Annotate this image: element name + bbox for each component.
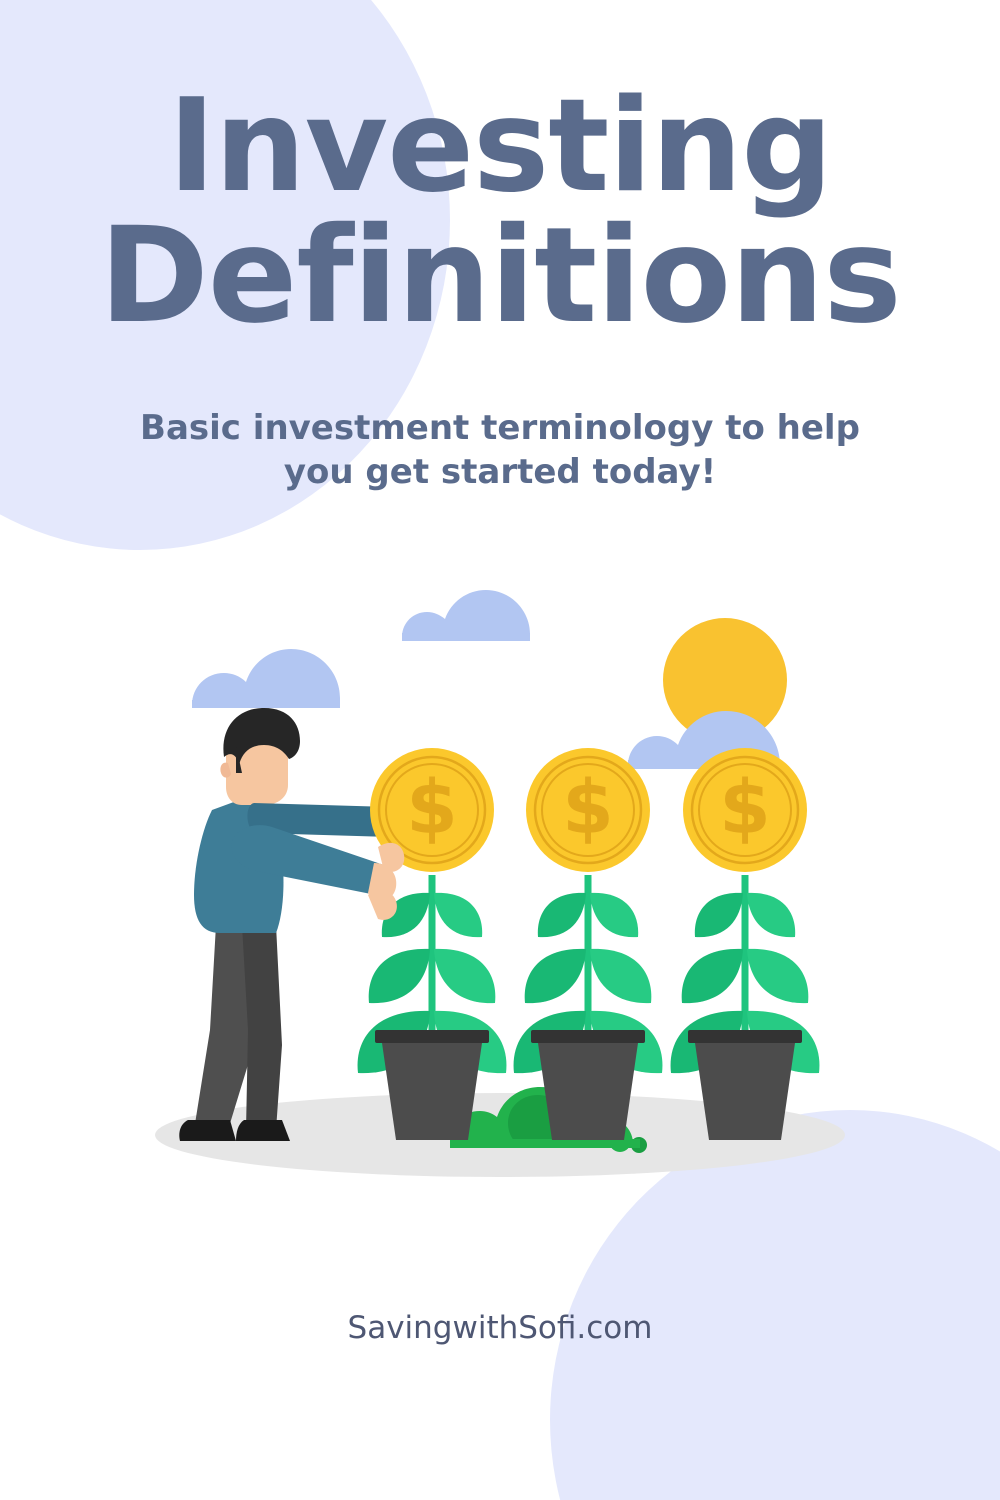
cloud-left-icon — [192, 649, 340, 708]
pinterest-graphic: Investing Definitions Basic investment t… — [0, 0, 1000, 1500]
page-subtitle: Basic investment terminology to help you… — [0, 407, 1000, 494]
illustration-svg: $ — [150, 575, 850, 1185]
headline-block: Investing Definitions Basic investment t… — [0, 86, 1000, 494]
cloud-top-icon — [402, 590, 530, 641]
page-title-line-1: Investing — [0, 86, 1000, 208]
page-title-line-2: Definitions — [0, 214, 1000, 339]
person-character — [179, 708, 408, 1141]
illustration: $ — [150, 575, 850, 1185]
site-url: SavingwithSofi.com — [0, 1310, 1000, 1346]
coin-plant-2 — [514, 748, 663, 1140]
coin-plant-3 — [671, 748, 820, 1140]
